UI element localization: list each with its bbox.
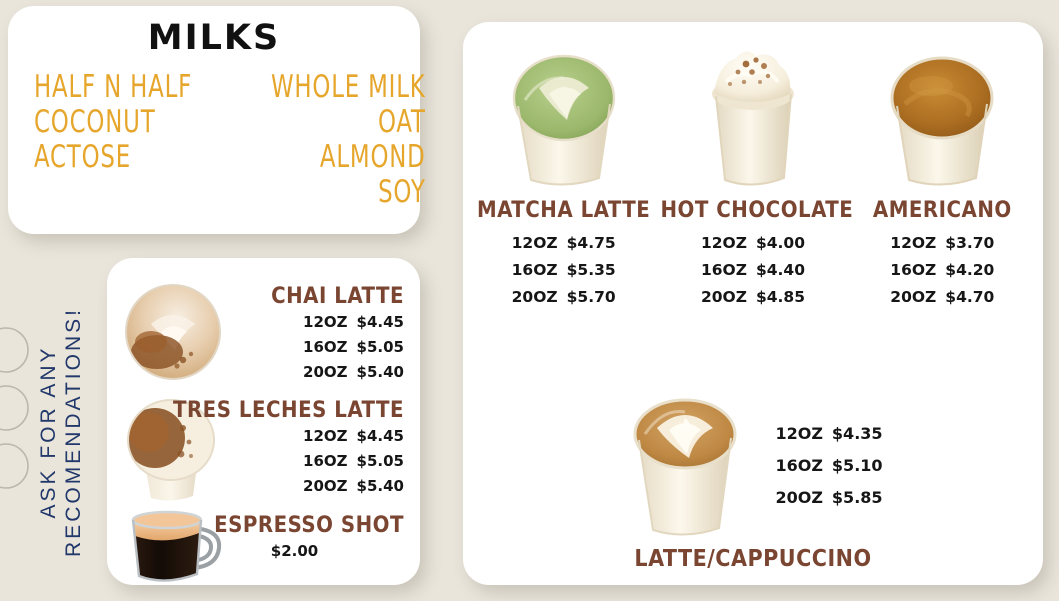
price-row: 12OZ$4.00 (660, 230, 845, 257)
price-value: $4.20 (945, 257, 994, 284)
price-row: 12OZ$4.45 (173, 424, 404, 449)
milk-option: ALMOND (271, 140, 426, 175)
tres-leches-latte-block: TRES LECHES LATTE 12OZ$4.45 16OZ$5.05 20… (173, 398, 404, 499)
price-row: 20OZ$4.85 (660, 284, 845, 311)
price-value: $4.00 (756, 230, 805, 257)
milk-option: HALF N HALF (34, 70, 192, 105)
milk-option: ACTOSE (34, 140, 192, 175)
americano-image (850, 40, 1035, 190)
hot-chocolate-image (660, 40, 845, 190)
size-label: 12OZ (890, 230, 936, 257)
price-row: 16OZ$5.35 (471, 257, 656, 284)
size-label: 12OZ (701, 230, 747, 257)
price-row: 16OZ$5.10 (775, 450, 882, 482)
milks-card: MILKS HALF N HALF COCONUT ACTOSE WHOLE M… (8, 6, 420, 234)
hot-drinks-columns: MATCHA LATTE 12OZ$4.75 16OZ$5.35 20OZ$5.… (463, 22, 1043, 311)
chai-latte-heading: CHAI LATTE (271, 284, 404, 310)
size-label: 20OZ (890, 284, 936, 311)
milk-option: OAT (271, 105, 426, 140)
size-label: 16OZ (775, 450, 822, 482)
milks-left-column: HALF N HALF COCONUT ACTOSE (34, 70, 227, 210)
chai-latte-image (121, 280, 225, 384)
hot-drinks-card: MATCHA LATTE 12OZ$4.75 16OZ$5.35 20OZ$5.… (463, 22, 1043, 585)
hot-chocolate-heading: HOT CHOCOLATE (660, 198, 845, 224)
size-label: 20OZ (701, 284, 747, 311)
price-row: 16OZ$5.05 (173, 449, 404, 474)
espresso-shot-block: ESPRESSO SHOT $2.00 (214, 513, 404, 564)
latte-cappuccino-section: 12OZ$4.35 16OZ$5.10 20OZ$5.85 LATTE/CAPP… (463, 392, 1043, 572)
hot-chocolate-prices: 12OZ$4.00 16OZ$4.40 20OZ$4.85 (660, 230, 845, 311)
price-value: $5.85 (832, 482, 883, 514)
matcha-latte-heading: MATCHA LATTE (471, 198, 656, 224)
price-value: $4.75 (567, 230, 616, 257)
milk-option: COCONUT (34, 105, 192, 140)
price-value: $4.45 (357, 424, 404, 449)
price-value: $4.70 (945, 284, 994, 311)
price-row: 20OZ$5.40 (271, 360, 404, 385)
recommendations-line-1: ASK FOR ANY (37, 272, 61, 592)
size-label: 16OZ (701, 257, 747, 284)
latte-cappuccino-heading: LATTE/CAPPUCCINO (634, 546, 871, 572)
size-label: 12OZ (303, 310, 348, 335)
specialty-drinks-card: CHAI LATTE 12OZ$4.45 16OZ$5.05 20OZ$5.40… (107, 258, 420, 585)
price-row: 16OZ$5.05 (271, 335, 404, 360)
price-value: $4.45 (357, 310, 404, 335)
price-value: $5.40 (357, 474, 404, 499)
size-label: 12OZ (775, 418, 822, 450)
price-row: 20OZ$5.85 (775, 482, 882, 514)
matcha-latte-column: MATCHA LATTE 12OZ$4.75 16OZ$5.35 20OZ$5.… (471, 40, 656, 311)
matcha-latte-image (471, 40, 656, 190)
size-label: 16OZ (512, 257, 558, 284)
price-value: $4.85 (756, 284, 805, 311)
milks-title: MILKS (8, 18, 420, 58)
americano-prices: 12OZ$3.70 16OZ$4.20 20OZ$4.70 (850, 230, 1035, 311)
price-row: 20OZ$5.70 (471, 284, 656, 311)
price-value: $5.05 (357, 449, 404, 474)
price-row: 12OZ$4.35 (775, 418, 882, 450)
matcha-latte-prices: 12OZ$4.75 16OZ$5.35 20OZ$5.70 (471, 230, 656, 311)
size-label: 16OZ (303, 449, 348, 474)
size-label: 20OZ (775, 482, 822, 514)
price-value: $4.40 (756, 257, 805, 284)
menu-board: MILKS HALF N HALF COCONUT ACTOSE WHOLE M… (0, 0, 1059, 601)
price-row: $2.00 (214, 539, 404, 564)
latte-cappuccino-caption: LATTE/CAPPUCCINO (463, 546, 1043, 572)
size-label: 16OZ (890, 257, 936, 284)
price-row: 12OZ$4.45 (271, 310, 404, 335)
price-row: 20OZ$5.40 (173, 474, 404, 499)
hot-chocolate-column: HOT CHOCOLATE 12OZ$4.00 16OZ$4.40 20OZ$4… (660, 40, 845, 311)
price-value: $2.00 (271, 539, 318, 564)
recommendations-text: ASK FOR ANY RECOMENDATIONS! (16, 272, 106, 592)
espresso-shot-heading: ESPRESSO SHOT (214, 513, 404, 539)
americano-column: AMERICANO 12OZ$3.70 16OZ$4.20 20OZ$4.70 (850, 40, 1035, 311)
size-label: 20OZ (512, 284, 558, 311)
latte-cappuccino-row: 12OZ$4.35 16OZ$5.10 20OZ$5.85 (463, 392, 1043, 540)
tres-leches-latte-heading: TRES LECHES LATTE (173, 398, 404, 424)
latte-cappuccino-prices: 12OZ$4.35 16OZ$5.10 20OZ$5.85 (775, 418, 882, 514)
milks-right-column: WHOLE MILK OAT ALMOND SOY (237, 70, 426, 210)
size-label: 16OZ (303, 335, 348, 360)
milk-option: SOY (271, 175, 426, 210)
chai-latte-block: CHAI LATTE 12OZ$4.45 16OZ$5.05 20OZ$5.40 (271, 284, 404, 385)
americano-heading: AMERICANO (850, 198, 1035, 224)
size-label: 12OZ (303, 424, 348, 449)
price-value: $5.05 (357, 335, 404, 360)
milk-option: WHOLE MILK (271, 70, 426, 105)
price-value: $5.40 (357, 360, 404, 385)
price-row: 12OZ$4.75 (471, 230, 656, 257)
price-row: 16OZ$4.40 (660, 257, 845, 284)
price-value: $5.70 (567, 284, 616, 311)
price-row: 16OZ$4.20 (850, 257, 1035, 284)
recommendations-line-2: RECOMENDATIONS! (62, 272, 86, 592)
recommendations-note: ASK FOR ANY RECOMENDATIONS! (10, 272, 100, 592)
milks-columns: HALF N HALF COCONUT ACTOSE WHOLE MILK OA… (8, 58, 420, 210)
size-label: 20OZ (303, 360, 348, 385)
price-value: $5.35 (567, 257, 616, 284)
size-label: 20OZ (303, 474, 348, 499)
price-row: 12OZ$3.70 (850, 230, 1035, 257)
price-row: 20OZ$4.70 (850, 284, 1035, 311)
price-value: $5.10 (832, 450, 883, 482)
price-value: $3.70 (945, 230, 994, 257)
latte-cappuccino-image (623, 392, 747, 540)
size-label: 12OZ (512, 230, 558, 257)
price-value: $4.35 (832, 418, 883, 450)
